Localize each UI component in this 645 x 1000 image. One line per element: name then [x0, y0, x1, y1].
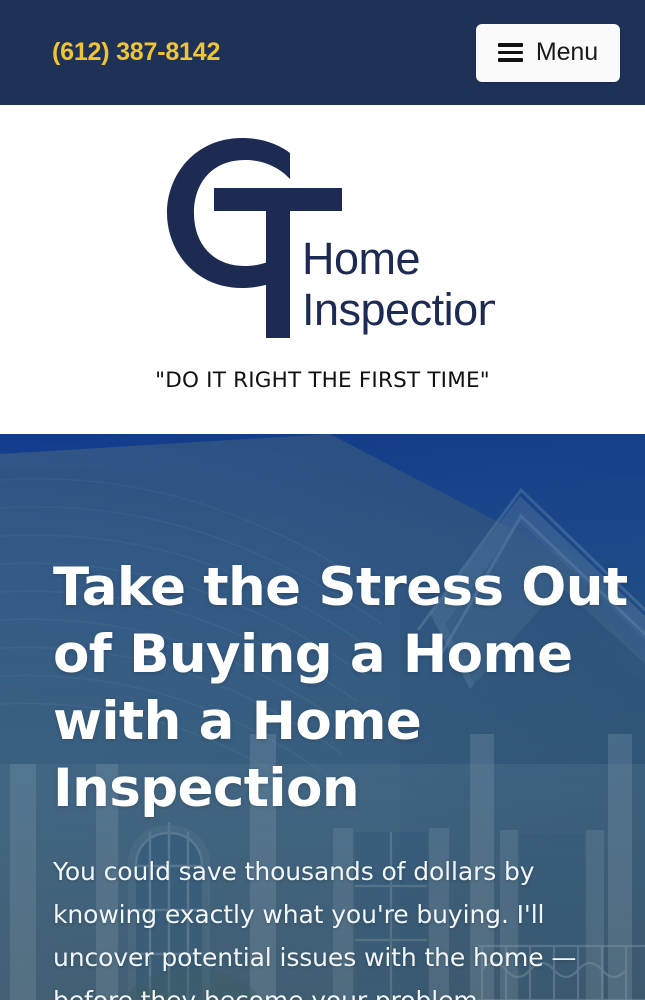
hamburger-icon — [498, 39, 523, 66]
page-root: (612) 387-8142 Menu Home Inspections "DO… — [0, 0, 645, 1000]
hero-title: Take the Stress Out of Buying a Home wit… — [53, 554, 631, 822]
branding-section: Home Inspections "DO IT RIGHT THE FIRST … — [0, 105, 645, 434]
ct-home-inspections-logo-icon: Home Inspections — [150, 131, 495, 346]
svg-text:Inspections: Inspections — [302, 284, 495, 335]
hero-content: Take the Stress Out of Buying a Home wit… — [53, 554, 631, 1000]
hero-section: Take the Stress Out of Buying a Home wit… — [0, 434, 645, 1000]
logo[interactable]: Home Inspections — [150, 131, 495, 346]
tagline: "DO IT RIGHT THE FIRST TIME" — [0, 368, 645, 393]
menu-button-label: Menu — [536, 38, 598, 67]
hero-subtitle: You could save thousands of dollars by k… — [53, 850, 631, 1000]
phone-link[interactable]: (612) 387-8142 — [52, 38, 220, 67]
site-header: (612) 387-8142 Menu — [0, 0, 645, 105]
svg-text:Home: Home — [302, 233, 420, 284]
menu-button[interactable]: Menu — [476, 24, 620, 82]
